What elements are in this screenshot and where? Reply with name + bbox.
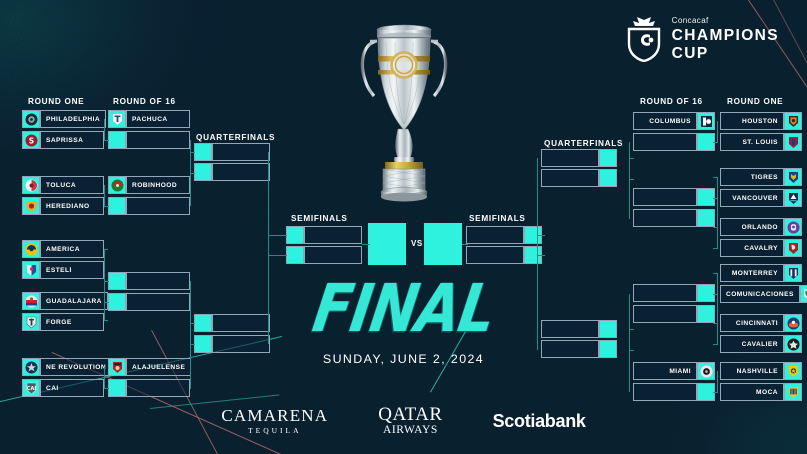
slot-left-r1-4[interactable]: AMÉRICA: [22, 240, 104, 258]
team-name-box: ST. LOUIS: [720, 133, 784, 151]
empty-crest: [286, 246, 304, 264]
team-name-box: ORLANDO: [720, 218, 784, 236]
slot-left-r16-3[interactable]: [108, 197, 190, 215]
team-name-box: MOCA: [720, 383, 784, 401]
header-left-quarterfinals: QUARTERFINALS: [196, 133, 275, 142]
header-right-quarterfinals: QUARTERFINALS: [544, 139, 623, 148]
monterrey-crest: [784, 264, 802, 282]
cavalry-fc-crest: [784, 239, 802, 257]
slot-right-r1-2[interactable]: TIGRES: [720, 168, 802, 186]
team-name-box: [212, 143, 270, 161]
club-america-crest: [22, 240, 40, 258]
team-name-box: HOUSTON: [720, 112, 784, 130]
concacaf-shield-crown-icon: [624, 16, 664, 62]
slot-right-r1-3[interactable]: VANCOUVER: [720, 189, 802, 207]
robinhood-crest: [108, 176, 126, 194]
sponsor-camarena-line1: CAMARENA: [221, 407, 328, 424]
sponsor-bar: CAMARENA TEQUILA QATAR AIRWAYS Scotiaban…: [0, 405, 807, 437]
slot-left-qf-0[interactable]: [194, 143, 270, 161]
tigres-crest: [784, 168, 802, 186]
slot-left-r1-0[interactable]: PHILADELPHIA: [22, 110, 104, 128]
empty-crest: [108, 131, 126, 149]
empty-crest: [194, 143, 212, 161]
slot-right-r1-1[interactable]: ST. LOUIS: [720, 133, 802, 151]
connector: [190, 152, 195, 153]
slot-right-r16-3[interactable]: [633, 209, 715, 227]
slot-left-sf-0[interactable]: [286, 226, 362, 244]
slot-left-sf-1[interactable]: [286, 246, 362, 264]
slot-left-r1-1[interactable]: S SAPRISSA: [22, 131, 104, 149]
slot-left-r16-0[interactable]: PACHUCA: [108, 110, 190, 128]
houston-dynamo-crest: [784, 112, 802, 130]
slot-right-r16-0[interactable]: COLUMBUS: [633, 112, 715, 130]
connector: [104, 388, 109, 389]
header-left-semifinals: SEMIFINALS: [291, 214, 348, 223]
team-name-box: [541, 149, 599, 167]
orlando-city-crest: [784, 218, 802, 236]
connector: [713, 392, 718, 393]
team-name-box: SAPRISSA: [40, 131, 104, 149]
connector: [104, 140, 109, 141]
connector: [268, 235, 287, 236]
connector: [629, 142, 630, 219]
sponsor-qatar-line2: AIRWAYS: [378, 425, 442, 437]
slot-right-r1-11[interactable]: MOCA: [720, 383, 802, 401]
connector: [362, 244, 370, 245]
header-right-round-one: ROUND ONE: [727, 97, 783, 106]
final-date: SUNDAY, JUNE 2, 2024: [0, 352, 807, 366]
slot-right-r16-2[interactable]: [633, 188, 715, 206]
vancouver-whitecaps-crest: [784, 189, 802, 207]
team-name-box: [466, 226, 524, 244]
team-name-box: ROBINHOOD: [126, 176, 190, 194]
header-left-round-one: ROUND ONE: [28, 97, 84, 106]
sponsor-camarena-tequila: CAMARENA TEQUILA: [221, 407, 328, 435]
vs-label: VS: [411, 239, 423, 248]
slot-left-r1-2[interactable]: TOLUCA: [22, 176, 104, 194]
team-name-box: [126, 197, 190, 215]
brand-subtitle: Concacaf: [672, 17, 779, 25]
team-name-box: [212, 163, 270, 181]
slot-right-r1-5[interactable]: CAVALRY: [720, 239, 802, 257]
svg-text:CAI: CAI: [26, 386, 36, 392]
cai-crest: CAI: [22, 379, 40, 397]
team-name-box: [304, 246, 362, 264]
header-right-round-of-16: ROUND OF 16: [640, 97, 703, 106]
final-block: FINAL SUNDAY, JUNE 2, 2024: [0, 282, 807, 366]
slot-right-sf-0[interactable]: [466, 226, 542, 244]
brand-line-1: CHAMPIONS: [672, 28, 779, 44]
bracket-canvas: Concacaf CHAMPIONS CUP ROUND ONE ROUND O…: [0, 0, 807, 454]
philadelphia-union-crest: [22, 110, 40, 128]
team-name-box: PHILADELPHIA: [40, 110, 106, 128]
connector: [537, 235, 545, 236]
connector: [713, 198, 718, 199]
team-name-box: [466, 246, 524, 264]
slot-right-qf-0[interactable]: [541, 149, 617, 167]
herediano-crest: [22, 197, 40, 215]
sponsor-scotiabank-line1: Scotiabank: [493, 412, 586, 430]
slot-right-qf-1[interactable]: [541, 169, 617, 187]
connector: [537, 255, 545, 256]
columbus-crew-crest: [697, 112, 715, 130]
slot-right-r1-4[interactable]: ORLANDO: [720, 218, 802, 236]
empty-crest: [286, 226, 304, 244]
concacaf-champions-cup-logo: Concacaf CHAMPIONS CUP: [624, 16, 779, 62]
team-name-box: [126, 379, 190, 397]
st-louis-city-crest: [784, 133, 802, 151]
connector: [104, 249, 108, 250]
team-name-box: HEREDIANO: [40, 197, 104, 215]
team-name-box: AMÉRICA: [40, 240, 104, 258]
team-name-box: [633, 133, 697, 151]
connector: [713, 177, 718, 178]
slot-right-r1-6[interactable]: MONTERREY: [720, 264, 802, 282]
connector: [713, 227, 718, 228]
empty-crest: [599, 169, 617, 187]
connector: [104, 367, 105, 389]
empty-crest: [599, 149, 617, 167]
connector: [104, 185, 105, 207]
brand-line-2: CUP: [672, 46, 779, 62]
slot-left-r1-3[interactable]: HEREDIANO: [22, 197, 104, 215]
empty-crest: [108, 197, 126, 215]
team-name-box: [633, 209, 697, 227]
connector: [268, 255, 287, 256]
empty-crest: [108, 379, 126, 397]
slot-left-r1-5[interactable]: ESTELÍ: [22, 261, 104, 279]
team-name-box: CAVALRY: [720, 239, 784, 257]
connector: [629, 158, 634, 159]
team-name-box: PACHUCA: [126, 110, 190, 128]
svg-text:S: S: [28, 136, 33, 145]
moca-fc-crest: [784, 383, 802, 401]
slot-left-r16-2[interactable]: ROBINHOOD: [108, 176, 190, 194]
final-slot-right[interactable]: [424, 223, 462, 265]
empty-crest: [194, 163, 212, 181]
header-right-semifinals: SEMIFINALS: [469, 214, 526, 223]
pachuca-crest: [108, 110, 126, 128]
slot-right-r16-1[interactable]: [633, 133, 715, 151]
slot-right-sf-1[interactable]: [466, 246, 542, 264]
slot-left-r16-7[interactable]: [108, 379, 190, 397]
header-left-round-of-16: ROUND OF 16: [113, 97, 176, 106]
connector: [713, 248, 718, 249]
team-name-box: MONTERREY: [720, 264, 784, 282]
team-name-box: [633, 188, 697, 206]
team-name-box: [541, 169, 599, 187]
slot-left-r16-1[interactable]: [108, 131, 190, 149]
team-name-box: VANCOUVER: [720, 189, 784, 207]
real-esteli-crest: [22, 261, 40, 279]
empty-crest: [697, 209, 715, 227]
final-title: FINAL: [308, 277, 498, 343]
sponsor-scotiabank: Scotiabank: [493, 412, 586, 430]
connector: [104, 206, 109, 207]
empty-crest: [697, 188, 715, 206]
connector: [190, 173, 195, 174]
team-name-box: TIGRES: [720, 168, 784, 186]
team-name-box: CAI: [40, 379, 104, 397]
sponsor-qatar-line1: QATAR: [378, 405, 442, 424]
connector: [717, 121, 718, 143]
saprissa-crest: S: [22, 131, 40, 149]
connector: [104, 119, 105, 141]
toluca-crest: [22, 176, 40, 194]
connector: [713, 142, 718, 143]
slot-left-qf-1[interactable]: [194, 163, 270, 181]
connector: [717, 371, 718, 393]
connector: [629, 179, 634, 180]
team-name-box: TOLUCA: [40, 176, 104, 194]
slot-left-r1-9[interactable]: CAI CAI: [22, 379, 104, 397]
sponsor-qatar-airways: QATAR AIRWAYS: [378, 405, 442, 437]
team-name-box: COLUMBUS: [633, 112, 697, 130]
connector: [717, 177, 718, 248]
final-slot-left[interactable]: [368, 223, 406, 265]
connector: [462, 244, 468, 245]
champions-cup-trophy-icon: [352, 8, 456, 208]
team-name-box: [126, 131, 190, 149]
slot-right-r16-7[interactable]: [633, 383, 715, 401]
team-name-box: ESTELÍ: [40, 261, 104, 279]
team-name-box: [633, 383, 697, 401]
connector: [713, 273, 718, 274]
slot-right-r1-0[interactable]: HOUSTON: [720, 112, 802, 130]
sponsor-camarena-line2: TEQUILA: [221, 427, 328, 435]
team-name-box: [304, 226, 362, 244]
